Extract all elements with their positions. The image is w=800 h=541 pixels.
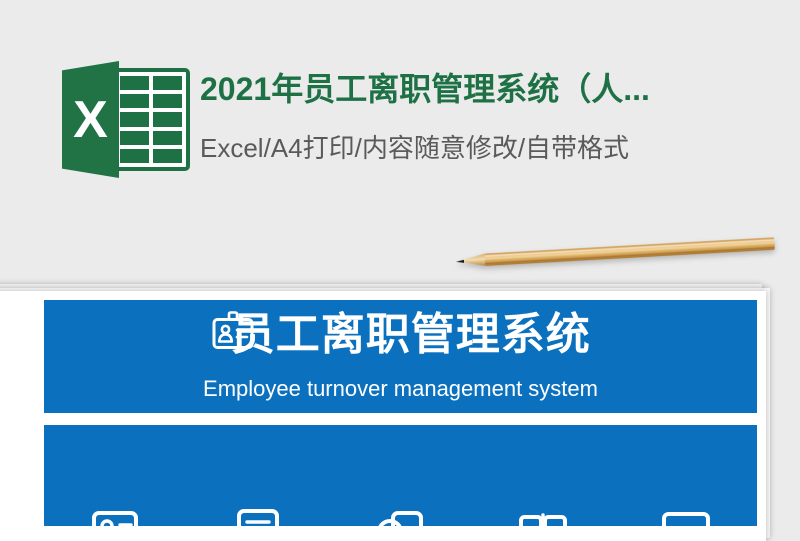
handover-book-icon[interactable] [516,505,570,526]
banner-heading-row: 员工离职管理系统 [44,312,757,358]
document-title-banner: 员工离职管理系统 Employee turnover management sy… [44,300,757,413]
banner-heading: 员工离职管理系统 [231,312,591,358]
excel-icon-grid [120,76,182,163]
resignation-form-icon[interactable] [231,505,285,526]
header-strip: X 2021年员工离职管理系统（人... Excel/A4打印/内容随意修改/自… [0,0,800,262]
employee-roster-icon[interactable] [88,505,142,526]
nav-icon-row [44,505,757,526]
document-nav-banner [44,425,757,526]
page-title: 2021年员工离职管理系统（人... [200,70,650,108]
excel-icon-letter: X [62,61,119,178]
page-subtitle: Excel/A4打印/内容随意修改/自带格式 [200,133,629,164]
id-badge-icon [210,310,256,356]
statistics-board-icon[interactable] [659,505,713,526]
search-record-icon[interactable] [373,505,427,526]
document-page-edge [0,291,766,294]
banner-subheading: Employee turnover management system [44,376,757,402]
excel-file-icon: X [62,61,190,178]
